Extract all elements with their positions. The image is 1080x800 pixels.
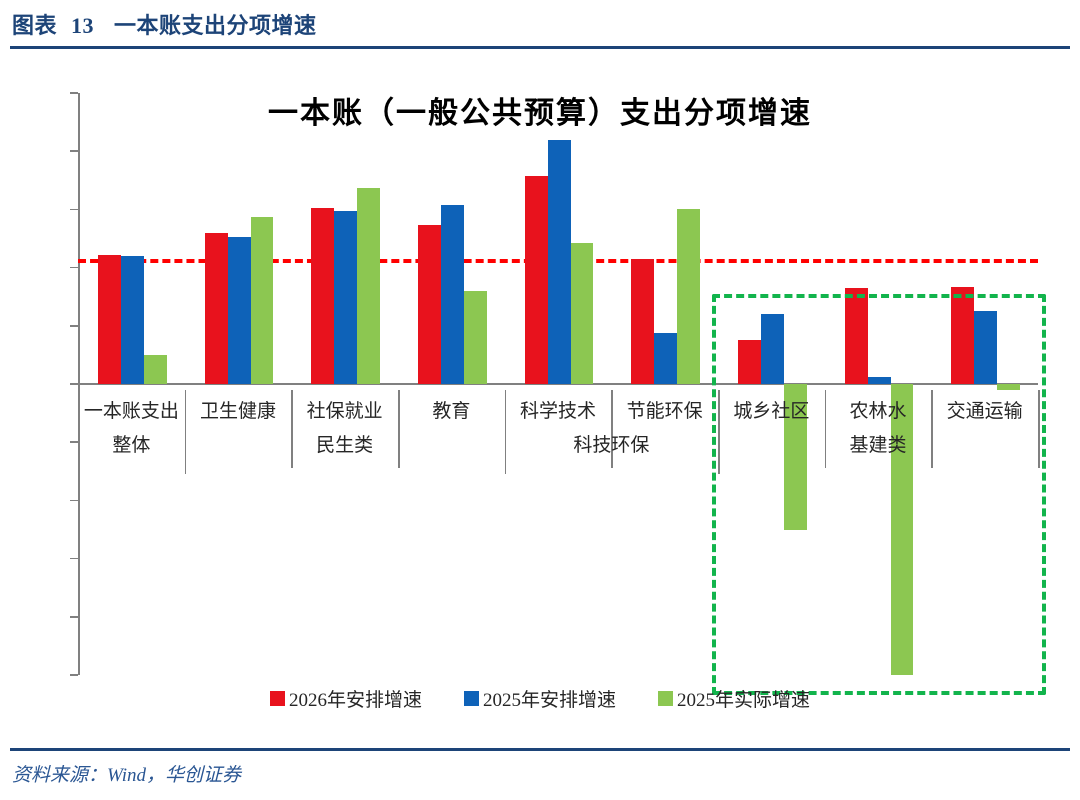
exhibit-prefix: 图表 xyxy=(12,13,57,38)
bar xyxy=(464,291,487,384)
category-label: 科学技术 xyxy=(505,396,612,423)
group-label: 民生类 xyxy=(185,430,505,457)
y-tick xyxy=(70,558,78,560)
exhibit-header: 图表 13 一本账支出分项增速 xyxy=(0,0,1080,52)
legend-swatch-1 xyxy=(270,691,285,706)
group-separator xyxy=(185,390,187,474)
bar xyxy=(441,205,464,384)
bar xyxy=(334,211,357,384)
y-tick xyxy=(70,674,78,676)
bar xyxy=(571,243,594,384)
bar xyxy=(251,217,274,384)
bar xyxy=(144,355,167,384)
y-tick xyxy=(70,441,78,443)
bar xyxy=(228,237,251,384)
exhibit-title-text: 一本账支出分项增速 xyxy=(114,13,317,38)
y-tick xyxy=(70,616,78,618)
legend-label: 2026年安排增速 xyxy=(289,685,422,712)
category-label: 教育 xyxy=(398,396,505,423)
group-label: 科技环保 xyxy=(505,430,718,457)
category-label: 卫生健康 xyxy=(185,396,292,423)
plot-area: 10%8%6%4%2%0%-2%-4%-6%-8%-10% 一本账支出卫生健康社… xyxy=(78,93,1038,675)
bar xyxy=(418,225,441,384)
y-tick xyxy=(70,383,78,385)
bar xyxy=(654,333,677,384)
chart-legend: 2026年安排增速2025年安排增速2025年实际增速 xyxy=(10,685,1070,712)
bar xyxy=(311,208,334,384)
category-label: 一本账支出 xyxy=(78,396,185,423)
y-tick xyxy=(70,325,78,327)
source-note: 资料来源：Wind，华创证券 xyxy=(12,760,241,787)
exhibit-number: 13 xyxy=(71,13,94,38)
legend-item[interactable]: 2025年安排增速 xyxy=(464,685,616,712)
legend-label: 2025年实际增速 xyxy=(677,685,810,712)
page-title: 图表 13 一本账支出分项增速 xyxy=(12,8,317,40)
y-tick xyxy=(70,150,78,152)
legend-swatch-2 xyxy=(464,691,479,706)
bar xyxy=(98,255,121,384)
highlight-region-box xyxy=(712,294,1046,696)
bar xyxy=(357,188,380,384)
footer-divider xyxy=(10,748,1070,751)
chart-container: 一本账（一般公共预算）支出分项增速 10%8%6%4%2%0%-2%-4%-6%… xyxy=(10,60,1070,740)
category-label: 社保就业 xyxy=(291,396,398,423)
legend-item[interactable]: 2026年安排增速 xyxy=(270,685,422,712)
bar xyxy=(205,233,228,384)
legend-label: 2025年安排增速 xyxy=(483,685,616,712)
y-tick xyxy=(70,500,78,502)
bar xyxy=(631,259,654,384)
bar xyxy=(548,140,571,384)
header-divider xyxy=(10,46,1070,49)
bar xyxy=(121,256,144,384)
group-label: 整体 xyxy=(78,430,185,457)
legend-swatch-3 xyxy=(658,691,673,706)
y-tick xyxy=(70,267,78,269)
legend-item[interactable]: 2025年实际增速 xyxy=(658,685,810,712)
y-tick xyxy=(70,209,78,211)
y-tick xyxy=(70,92,78,94)
bar xyxy=(677,209,700,384)
category-label: 节能环保 xyxy=(611,396,718,423)
group-separator xyxy=(505,390,507,474)
bar xyxy=(525,176,548,384)
